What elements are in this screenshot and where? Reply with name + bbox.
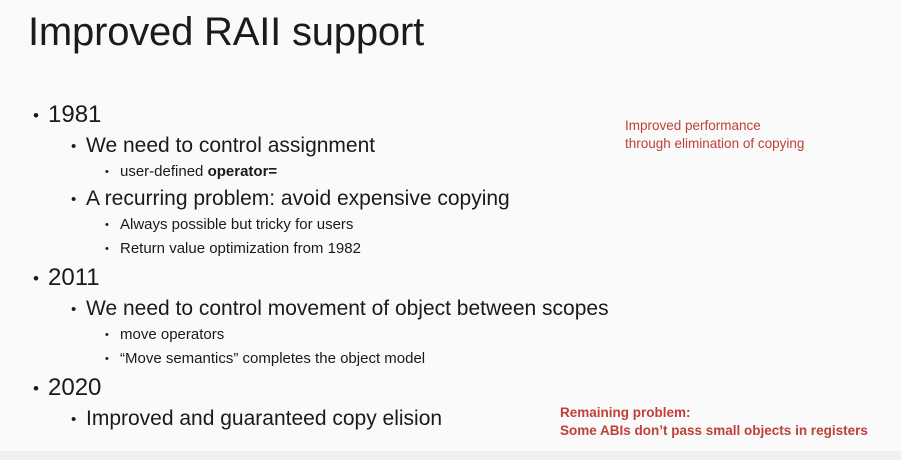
slide-canvas: Improved RAII support •1981•We need to c… xyxy=(0,0,901,460)
annotation-line: Remaining problem: xyxy=(560,404,868,422)
bullet-item-level-1: •1981 xyxy=(0,98,620,131)
bullet-item-level-3: •move operators xyxy=(0,323,620,347)
annotation-improved-performance: Improved performance through elimination… xyxy=(625,117,804,153)
bullet-point-icon: • xyxy=(33,270,48,287)
bullet-point-icon: • xyxy=(105,244,120,255)
bullet-item-label: We need to control movement of object be… xyxy=(86,294,609,323)
bullet-item-label: A recurring problem: avoid expensive cop… xyxy=(86,184,510,213)
slide-bottom-edge xyxy=(0,451,901,460)
bullet-list: •1981•We need to control assignment•user… xyxy=(0,98,620,433)
bullet-item-label: 1981 xyxy=(48,98,101,131)
bullet-point-icon: • xyxy=(71,412,86,427)
bullet-point-icon: • xyxy=(71,192,86,207)
bullet-point-icon: • xyxy=(71,302,86,317)
bullet-point-icon: • xyxy=(33,380,48,397)
page-title: Improved RAII support xyxy=(28,8,424,56)
bullet-item-label: move operators xyxy=(120,323,224,347)
bullet-item-label: We need to control assignment xyxy=(86,131,375,160)
bullet-item-label: Return value optimization from 1982 xyxy=(120,237,361,261)
bullet-text-plain: user-defined xyxy=(120,163,208,180)
bullet-item-level-3: •user-defined operator= xyxy=(0,160,620,184)
annotation-line: Some ABIs don’t pass small objects in re… xyxy=(560,422,868,440)
bullet-item-level-1: •2020 xyxy=(0,371,620,404)
annotation-remaining-problem: Remaining problem: Some ABIs don’t pass … xyxy=(560,404,868,440)
annotation-line: Improved performance xyxy=(625,117,804,135)
bullet-text-emphasis: operator= xyxy=(208,163,278,180)
bullet-item-label: user-defined operator= xyxy=(120,160,277,184)
bullet-point-icon: • xyxy=(105,330,120,341)
bullet-item-level-2: •We need to control assignment xyxy=(0,131,620,160)
bullet-item-level-3: •Always possible but tricky for users xyxy=(0,213,620,237)
bullet-point-icon: • xyxy=(105,167,120,178)
bullet-item-level-2: •We need to control movement of object b… xyxy=(0,294,620,323)
bullet-item-label: Improved and guaranteed copy elision xyxy=(86,404,442,433)
bullet-item-label: “Move semantics” completes the object mo… xyxy=(120,347,425,371)
bullet-point-icon: • xyxy=(71,139,86,154)
bullet-item-level-1: •2011 xyxy=(0,261,620,294)
bullet-point-icon: • xyxy=(33,107,48,124)
bullet-item-level-2: •Improved and guaranteed copy elision xyxy=(0,404,620,433)
bullet-item-level-2: •A recurring problem: avoid expensive co… xyxy=(0,184,620,213)
bullet-point-icon: • xyxy=(105,220,120,231)
bullet-item-label: 2011 xyxy=(48,261,100,294)
bullet-item-level-3: •“Move semantics” completes the object m… xyxy=(0,347,620,371)
annotation-line: through elimination of copying xyxy=(625,135,804,153)
bullet-item-label: Always possible but tricky for users xyxy=(120,213,353,237)
bullet-item-label: 2020 xyxy=(48,371,101,404)
bullet-item-level-3: •Return value optimization from 1982 xyxy=(0,237,620,261)
bullet-point-icon: • xyxy=(105,354,120,365)
